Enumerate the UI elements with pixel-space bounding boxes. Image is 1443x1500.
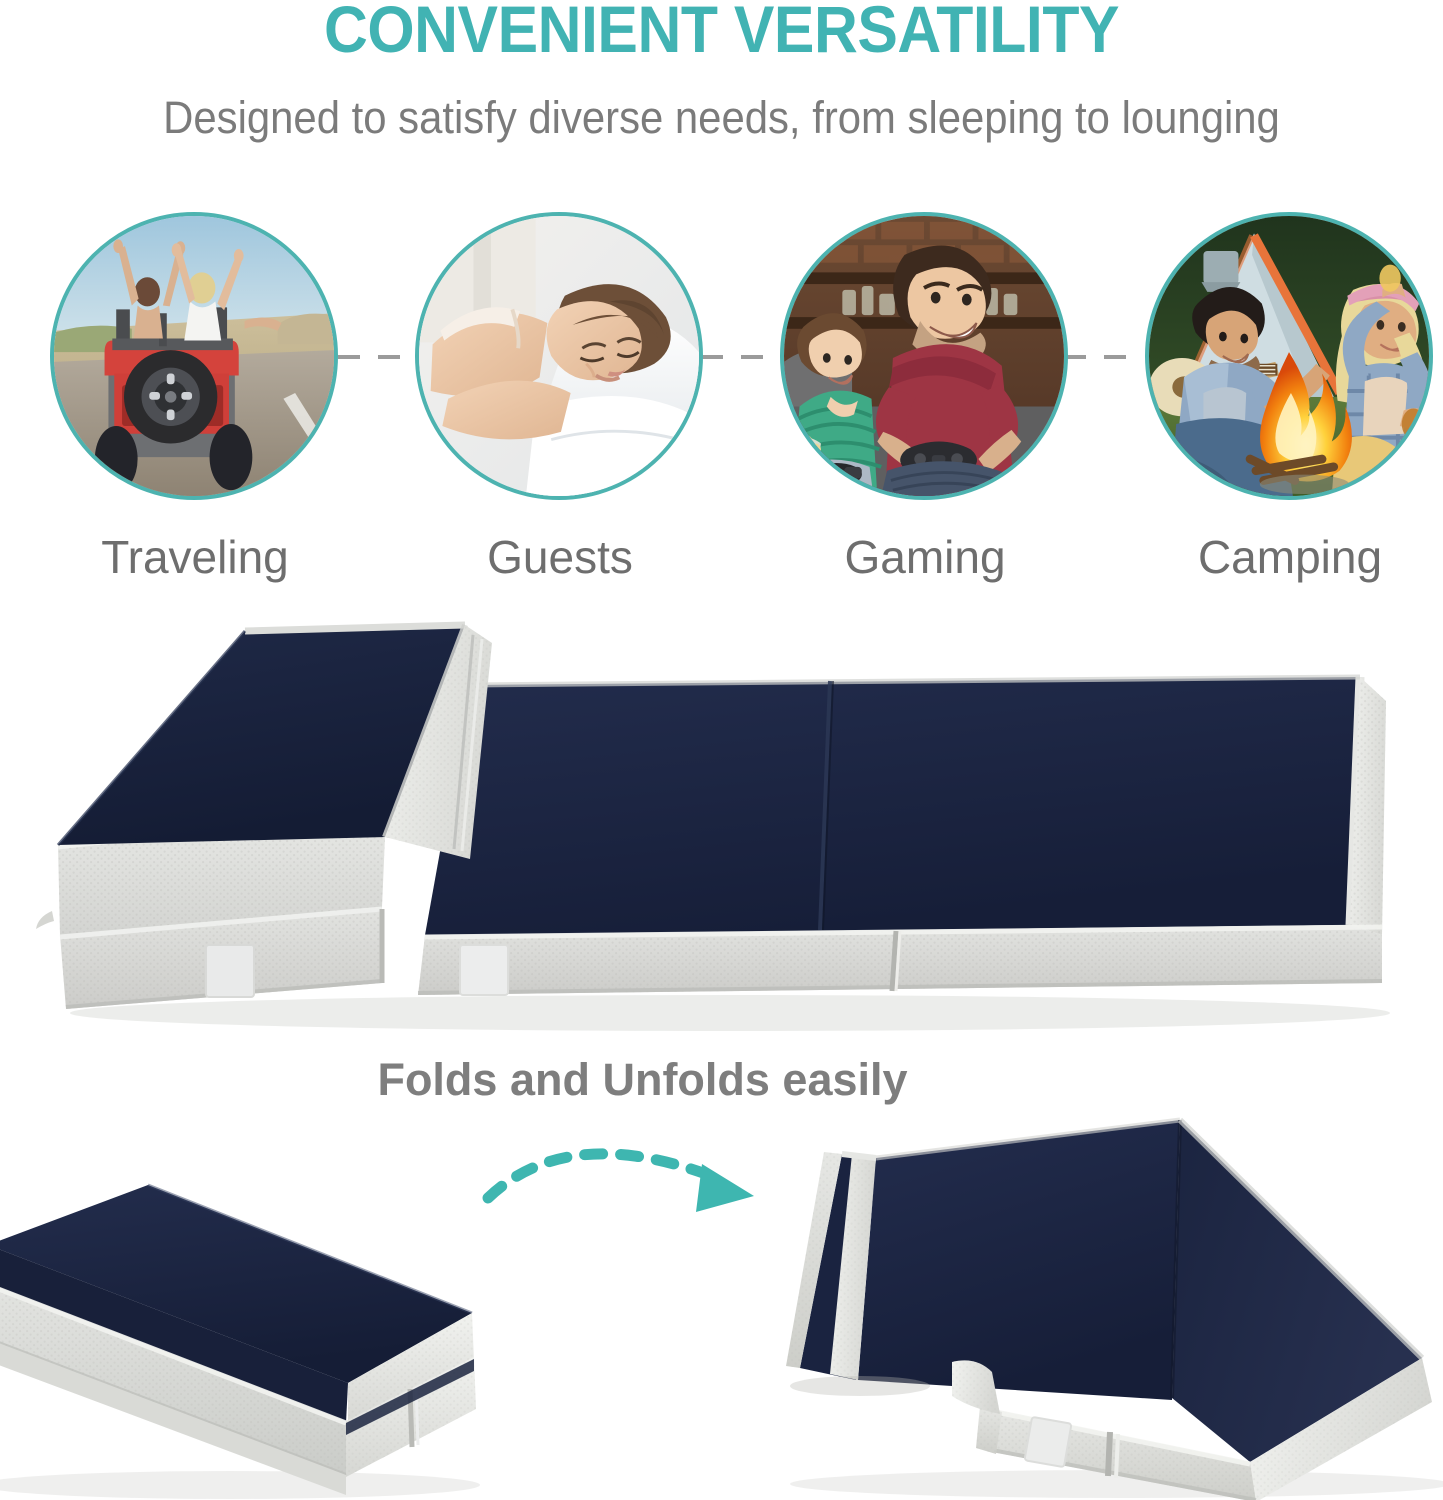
- header: CONVENIENT VERSATILITY Designed to satis…: [0, 0, 1443, 175]
- product-figure-unfolded: [30, 605, 1430, 1035]
- use-case-row: Traveling: [0, 190, 1443, 600]
- connector-dash-1: [338, 355, 416, 359]
- use-case-gaming[interactable]: Gaming: [775, 190, 1075, 600]
- use-case-label-camping: Camping: [1140, 530, 1440, 584]
- product-figure-folded: [0, 1165, 480, 1500]
- use-case-photo-traveling: [50, 212, 338, 500]
- product-figure-chair: [780, 1110, 1443, 1500]
- use-case-traveling[interactable]: Traveling: [45, 190, 345, 600]
- use-case-label-gaming: Gaming: [775, 530, 1075, 584]
- jeep-desert-photo: [54, 216, 334, 496]
- connector-dash-2: [701, 355, 779, 359]
- use-case-label-guests: Guests: [410, 530, 710, 584]
- folds-caption: Folds and Unfolds easily: [0, 1054, 1285, 1106]
- use-case-camping[interactable]: Camping: [1140, 190, 1440, 600]
- father-son-gaming-photo: [784, 216, 1064, 496]
- use-case-label-traveling: Traveling: [45, 530, 345, 584]
- chair-fold-mattress-illustration: [780, 1110, 1443, 1500]
- use-case-photo-guests: [415, 212, 703, 500]
- woman-sleeping-photo: [419, 216, 699, 496]
- use-case-photo-camping: [1145, 212, 1433, 500]
- page-subtitle: Designed to satisfy diverse needs, from …: [51, 92, 1393, 144]
- use-case-photo-gaming: [780, 212, 1068, 500]
- page-title: CONVENIENT VERSATILITY: [58, 0, 1386, 64]
- connector-dash-3: [1064, 355, 1142, 359]
- folded-mattress-illustration: [0, 1165, 480, 1500]
- unfolded-mattress-illustration: [30, 605, 1430, 1035]
- curved-dashed-arrow-icon: [470, 1130, 780, 1240]
- campfire-couple-photo: [1149, 216, 1429, 496]
- use-case-guests[interactable]: Guests: [410, 190, 710, 600]
- fold-direction-arrow: [470, 1130, 780, 1240]
